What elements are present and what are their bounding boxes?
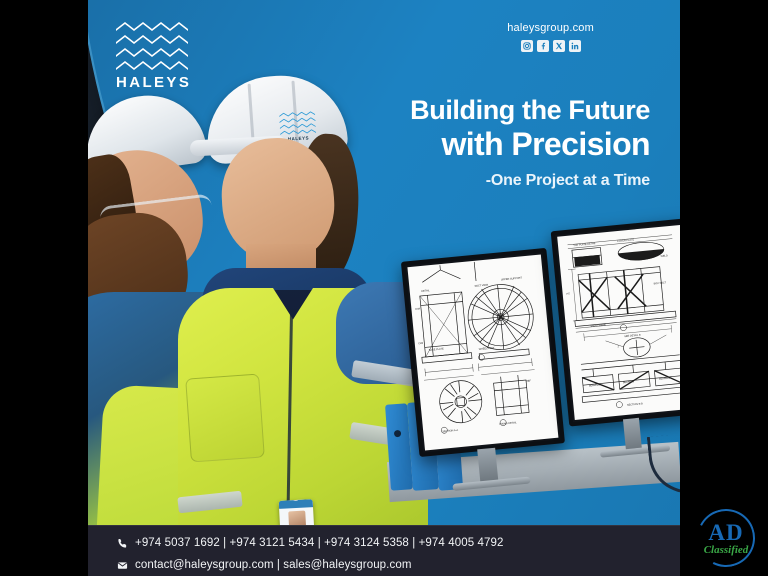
svg-text:UPPER SUPPORT: UPPER SUPPORT — [501, 276, 523, 281]
svg-text:WELD: WELD — [661, 254, 669, 258]
watermark-primary-text: AD — [694, 520, 758, 546]
cad-drawing-left: DETAILSECT VIEW UPPER SUPPORT BASE PLATE… — [407, 254, 558, 450]
phone-numbers[interactable]: +974 5037 1692 | +974 3121 5434 | +974 3… — [135, 535, 503, 552]
phone-line: +974 5037 1692 | +974 3121 5434 | +974 3… — [116, 535, 680, 552]
headline-tagline: -One Project at a Time — [410, 172, 650, 190]
monitor-right[interactable]: TOP PLATE DETAIL COVER PLATE WELD BOX SE… — [551, 218, 680, 426]
worker-female: HALEYS — [184, 76, 414, 546]
haleys-chevron-waves-logo-icon — [116, 48, 188, 57]
headline-block: Building the Future with Precision -One … — [410, 96, 650, 190]
haleys-logo: HALEYS — [116, 22, 188, 91]
svg-text:MAIN FRAME: MAIN FRAME — [591, 323, 607, 328]
svg-text:DETAIL: DETAIL — [421, 289, 430, 293]
haleys-chevron-waves-logo-icon — [116, 22, 188, 31]
monitor-stand — [623, 418, 642, 451]
svg-text:HT: HT — [566, 292, 570, 295]
svg-text:DIM: DIM — [415, 307, 420, 310]
linkedin-icon[interactable] — [569, 40, 581, 52]
svg-text:FIXING DETAIL: FIXING DETAIL — [499, 421, 517, 426]
haleys-chevron-waves-logo-icon — [116, 35, 188, 44]
ad-classified-watermark: AD Classified — [694, 506, 758, 570]
facebook-icon[interactable] — [537, 40, 549, 52]
svg-text:BOX SECT: BOX SECT — [654, 281, 667, 285]
email-line: contact@haleysgroup.com | sales@haleysgr… — [116, 557, 680, 574]
svg-text:SEE DETAIL B: SEE DETAIL B — [624, 334, 641, 339]
social-icon-row — [507, 40, 594, 52]
screenshot-canvas: HALEYS haleysgroup.com Bui — [0, 0, 768, 576]
svg-text:REF: REF — [526, 379, 532, 383]
website-url[interactable]: haleysgroup.com — [507, 22, 594, 34]
svg-text:WHEEL ASSY: WHEEL ASSY — [479, 346, 495, 351]
svg-text:BEARING: BEARING — [659, 377, 670, 381]
svg-text:DIM: DIM — [418, 342, 423, 345]
phone-icon — [116, 537, 128, 549]
dual-monitor-setup: DETAILSECT VIEW UPPER SUPPORT BASE PLATE… — [400, 225, 680, 475]
cad-drawing-right: TOP PLATE DETAIL COVER PLATE WELD BOX SE… — [557, 225, 680, 420]
svg-text:COVER PLATE: COVER PLATE — [617, 238, 635, 243]
watermark-secondary-text: Classified — [694, 544, 758, 556]
envelope-icon — [116, 559, 128, 571]
svg-text:BEARING: BEARING — [623, 380, 634, 384]
svg-text:SECTION B-B: SECTION B-B — [627, 402, 643, 407]
haleys-chevron-waves-logo-icon — [116, 61, 188, 70]
website-and-socials: haleysgroup.com — [507, 22, 594, 52]
x-twitter-icon[interactable] — [553, 40, 565, 52]
monitor-left[interactable]: DETAILSECT VIEW UPPER SUPPORT BASE PLATE… — [401, 248, 565, 457]
svg-text:SECT VIEW: SECT VIEW — [474, 284, 488, 288]
svg-text:BEARING: BEARING — [589, 383, 600, 387]
svg-text:SECTION A-A: SECTION A-A — [442, 429, 458, 434]
jacket-pocket — [185, 374, 265, 463]
contact-footer-bar: +974 5037 1692 | +974 3121 5434 | +974 3… — [88, 525, 680, 576]
instagram-icon[interactable] — [521, 40, 533, 52]
logo-wordmark: HALEYS — [116, 74, 188, 91]
advertisement-creative: HALEYS haleysgroup.com Bui — [88, 0, 680, 576]
svg-text:BASE PLATE: BASE PLATE — [429, 347, 444, 351]
headline-line-1: Building the Future — [410, 96, 650, 125]
email-addresses[interactable]: contact@haleysgroup.com | sales@haleysgr… — [135, 557, 412, 574]
headline-line-2: with Precision — [410, 127, 650, 162]
monitor-stand — [477, 448, 498, 484]
